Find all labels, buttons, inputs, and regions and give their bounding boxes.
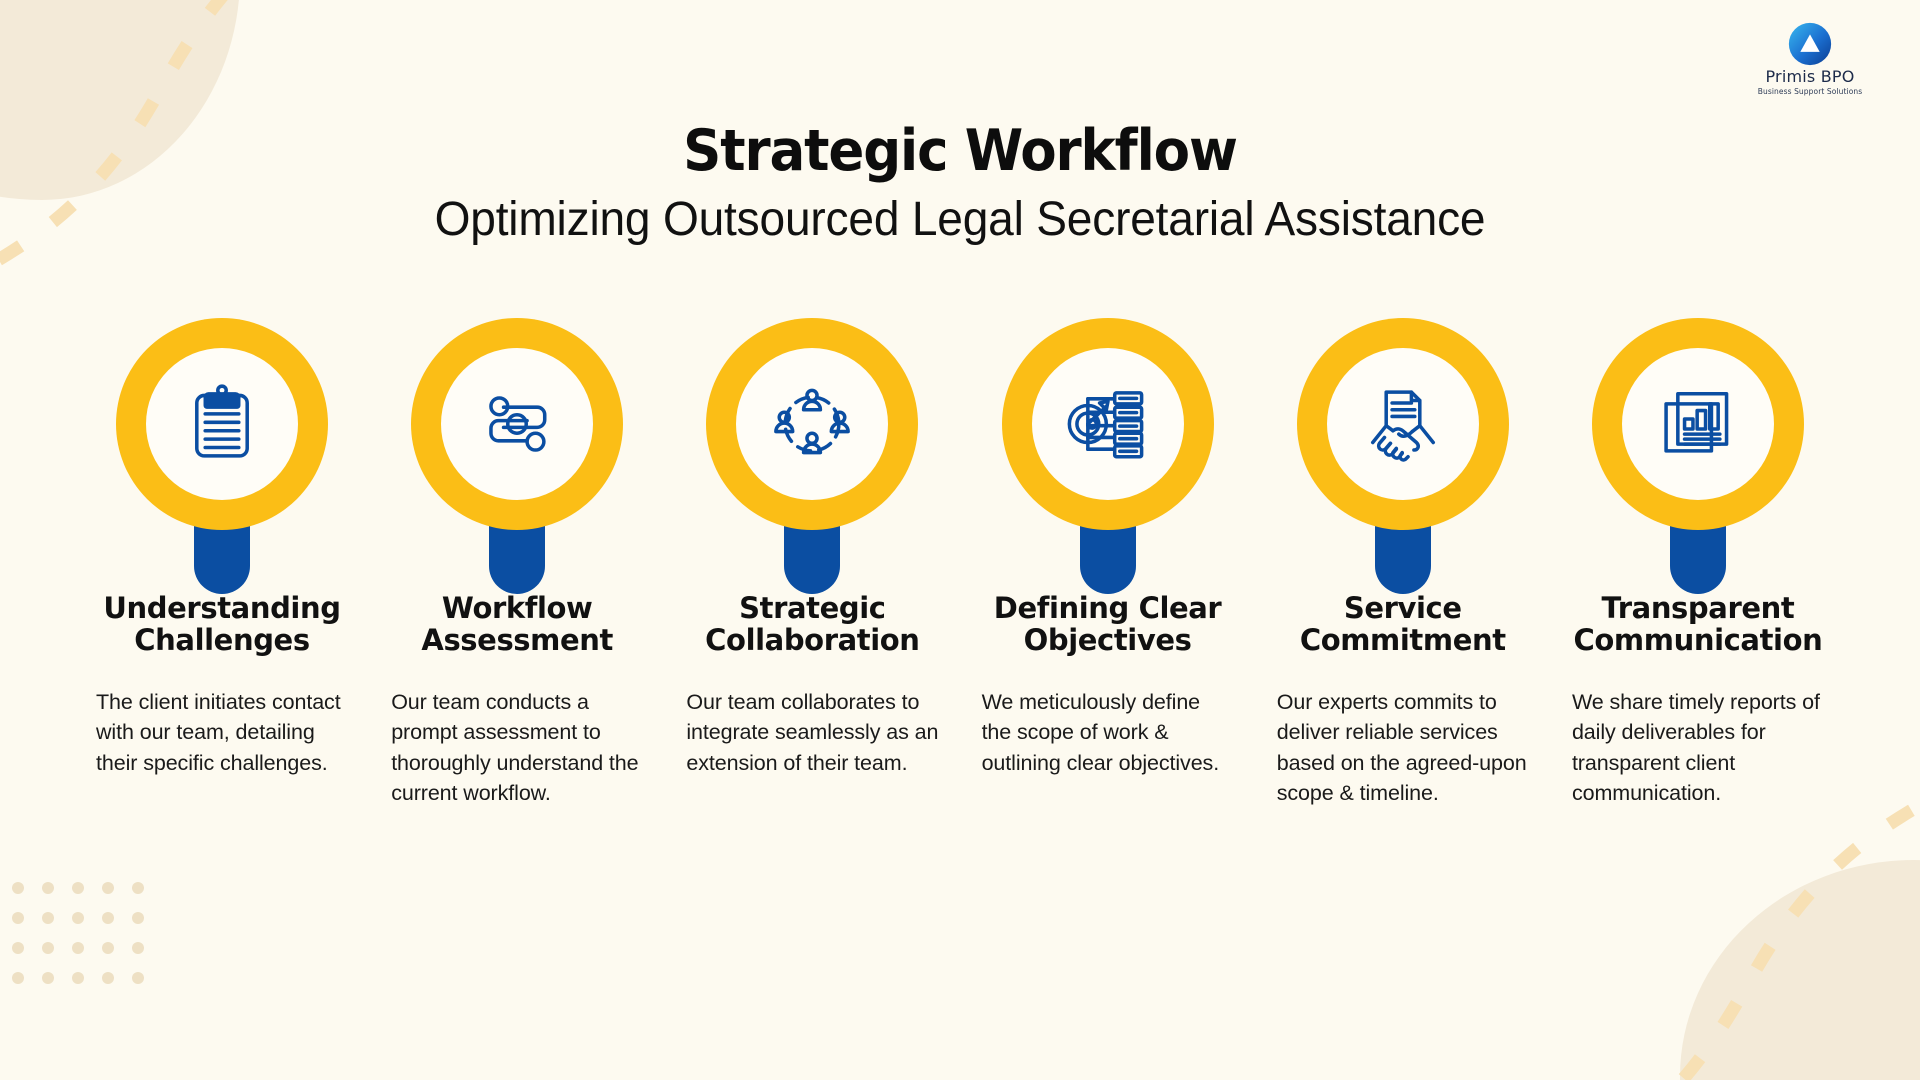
page-subtitle: Optimizing Outsourced Legal Secretarial … [38,192,1881,247]
workflow-nodes-icon [475,382,559,466]
workflow-step: Understanding Challenges The client init… [96,318,348,778]
target-checklist-icon [1066,382,1150,466]
badge-inner [736,348,888,500]
step-description: We meticulously define the scope of work… [982,687,1234,779]
step-badge [692,318,932,596]
workflow-step: Transparent Communication We share timel… [1572,318,1824,809]
step-title: Workflow Assessment [391,592,643,657]
step-badge [397,318,637,596]
step-title: Strategic Collaboration [686,592,938,657]
workflow-step: Strategic Collaboration Our team collabo… [686,318,938,778]
workflow-steps: Understanding Challenges The client init… [96,318,1824,809]
badge-inner [441,348,593,500]
team-network-icon [770,382,854,466]
badge-inner [146,348,298,500]
step-badge [1578,318,1818,596]
step-description: We share timely reports of daily deliver… [1572,687,1824,809]
badge-ring [1592,318,1804,530]
workflow-step: Defining Clear Objectives We meticulousl… [982,318,1234,778]
badge-ring [411,318,623,530]
step-description: Our experts commits to deliver reliable … [1277,687,1529,809]
workflow-step: Service Commitment Our experts commits t… [1277,318,1529,809]
dot-grid-icon [10,880,160,990]
step-badge [1283,318,1523,596]
blob-bottom-right [1680,860,1920,1080]
badge-inner [1032,348,1184,500]
badge-inner [1622,348,1774,500]
brand-logo: Primis BPO Business Support Solutions [1750,22,1870,96]
badge-ring [706,318,918,530]
step-description: Our team collaborates to integrate seaml… [686,687,938,779]
brand-tagline: Business Support Solutions [1750,87,1870,96]
step-title: Understanding Challenges [96,592,348,657]
step-description: Our team conducts a prompt assessment to… [391,687,643,809]
step-title: Defining Clear Objectives [982,592,1234,657]
step-badge [988,318,1228,596]
badge-inner [1327,348,1479,500]
badge-ring [1297,318,1509,530]
brand-name: Primis BPO [1750,69,1870,86]
step-description: The client initiates contact with our te… [96,687,348,779]
badge-ring [1002,318,1214,530]
workflow-step: Workflow Assessment Our team conducts a … [391,318,643,809]
step-badge [102,318,342,596]
page-title: Strategic Workflow [67,118,1853,184]
handshake-document-icon [1361,382,1445,466]
clipboard-icon [180,382,264,466]
page-title-block: Strategic Workflow Optimizing Outsourced… [0,118,1920,247]
step-title: Service Commitment [1277,592,1529,657]
badge-ring [116,318,328,530]
primis-triangle-logo-icon [1788,22,1832,66]
dashed-curve-bottom-right-icon [1560,770,1920,1080]
step-title: Transparent Communication [1572,592,1824,657]
report-chart-icon [1656,382,1740,466]
